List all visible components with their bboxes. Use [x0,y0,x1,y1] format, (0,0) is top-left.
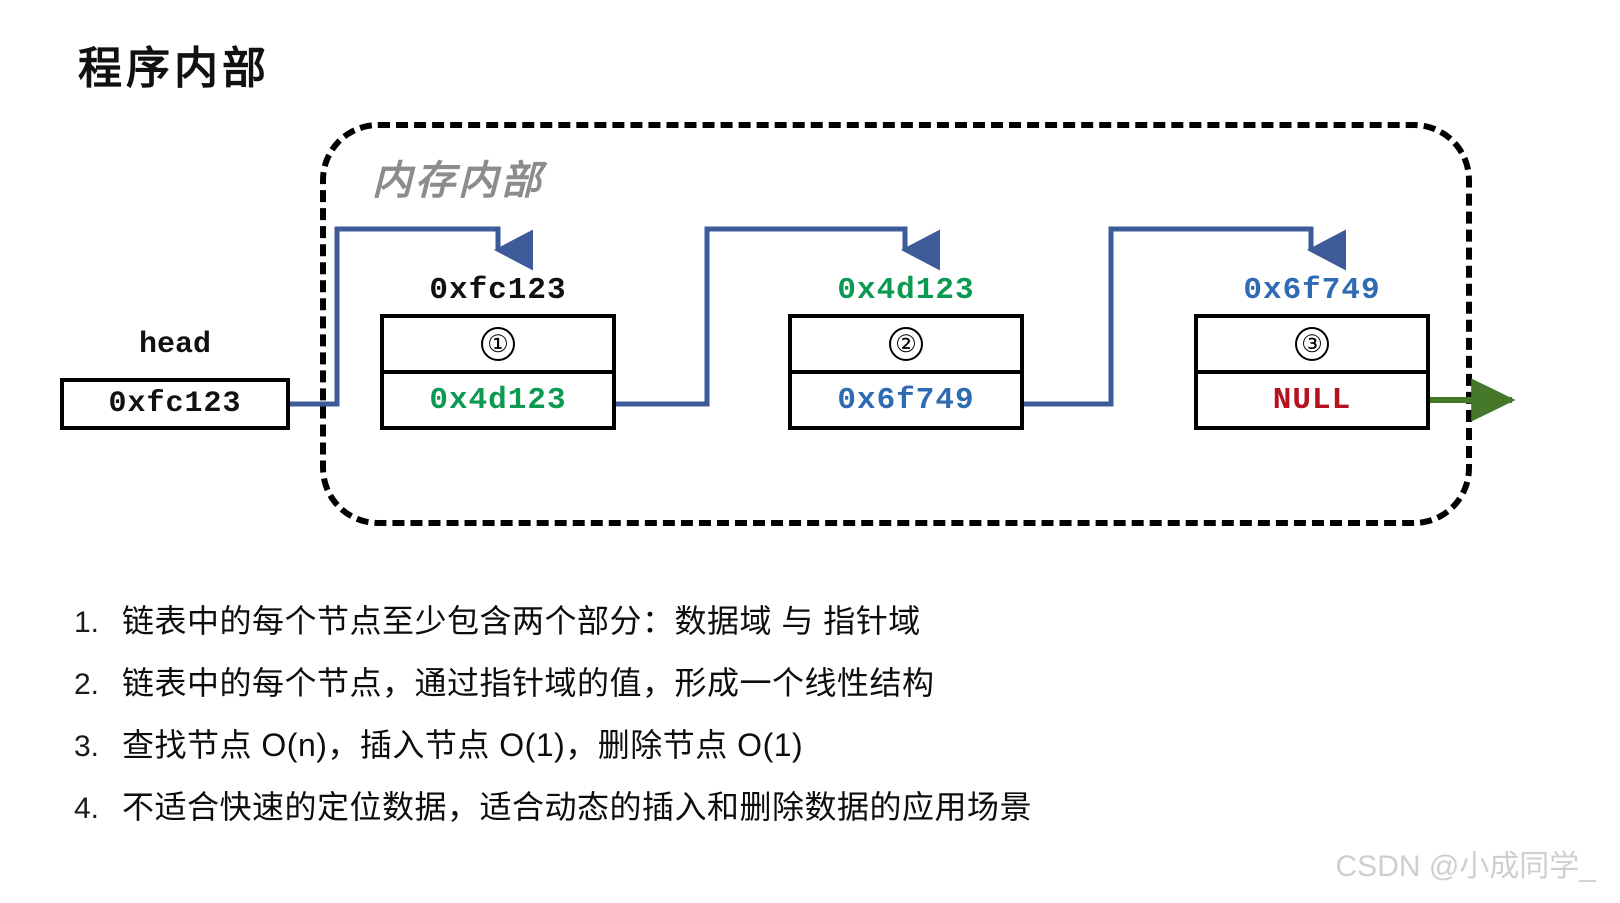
head-value: 0xfc123 [108,387,241,421]
node-1-data-cell: ① [384,318,612,374]
list-item-number: 2. [74,668,122,702]
node-1-box: ① 0x4d123 [380,314,616,430]
list-item: 1. 链表中的每个节点至少包含两个部分：数据域 与 指针域 [74,596,1274,642]
node-2-pointer-cell: 0x6f749 [792,374,1020,426]
node-3-data-value: ③ [1295,327,1329,361]
list-item-number: 4. [74,792,122,826]
page-title: 程序内部 [78,32,270,96]
list-item: 2. 链表中的每个节点，通过指针域的值，形成一个线性结构 [74,658,1274,704]
linked-list-node-3: 0x6f749 ③ NULL [1194,268,1430,430]
linked-list-node-2: 0x4d123 ② 0x6f749 [788,268,1024,430]
node-3-pointer-value: NULL [1273,383,1351,418]
node-3-data-cell: ③ [1198,318,1426,374]
list-item-text: 不适合快速的定位数据，适合动态的插入和删除数据的应用场景 [122,782,1032,828]
head-box: 0xfc123 [60,378,290,430]
list-item: 3. 查找节点 O(n)，插入节点 O(1)，删除节点 O(1) [74,720,1274,766]
list-item-text: 链表中的每个节点至少包含两个部分：数据域 与 指针域 [122,596,921,642]
node-2-data-value: ② [889,327,923,361]
node-1-address: 0xfc123 [380,268,616,314]
list-item-number: 3. [74,730,122,764]
notes-list: 1. 链表中的每个节点至少包含两个部分：数据域 与 指针域 2. 链表中的每个节… [74,596,1274,844]
list-item: 4. 不适合快速的定位数据，适合动态的插入和删除数据的应用场景 [74,782,1274,828]
node-3-box: ③ NULL [1194,314,1430,430]
node-1-data-value: ① [481,327,515,361]
slide-canvas: 程序内部 内存内部 head 0xfc1 [0,0,1620,903]
node-2-box: ② 0x6f749 [788,314,1024,430]
node-3-address: 0x6f749 [1194,268,1430,314]
node-1-pointer-value: 0x4d123 [429,383,566,418]
list-item-text: 链表中的每个节点，通过指针域的值，形成一个线性结构 [122,658,935,704]
head-label: head [60,328,290,362]
list-item-number: 1. [74,606,122,640]
node-3-pointer-cell: NULL [1198,374,1426,426]
node-2-data-cell: ② [792,318,1020,374]
node-1-pointer-cell: 0x4d123 [384,374,612,426]
watermark: CSDN @小成同学_ [1336,841,1596,885]
node-2-pointer-value: 0x6f749 [837,383,974,418]
memory-region-title: 内存内部 [372,148,544,206]
node-2-address: 0x4d123 [788,268,1024,314]
linked-list-node-1: 0xfc123 ① 0x4d123 [380,268,616,430]
list-item-text: 查找节点 O(n)，插入节点 O(1)，删除节点 O(1) [122,720,803,766]
